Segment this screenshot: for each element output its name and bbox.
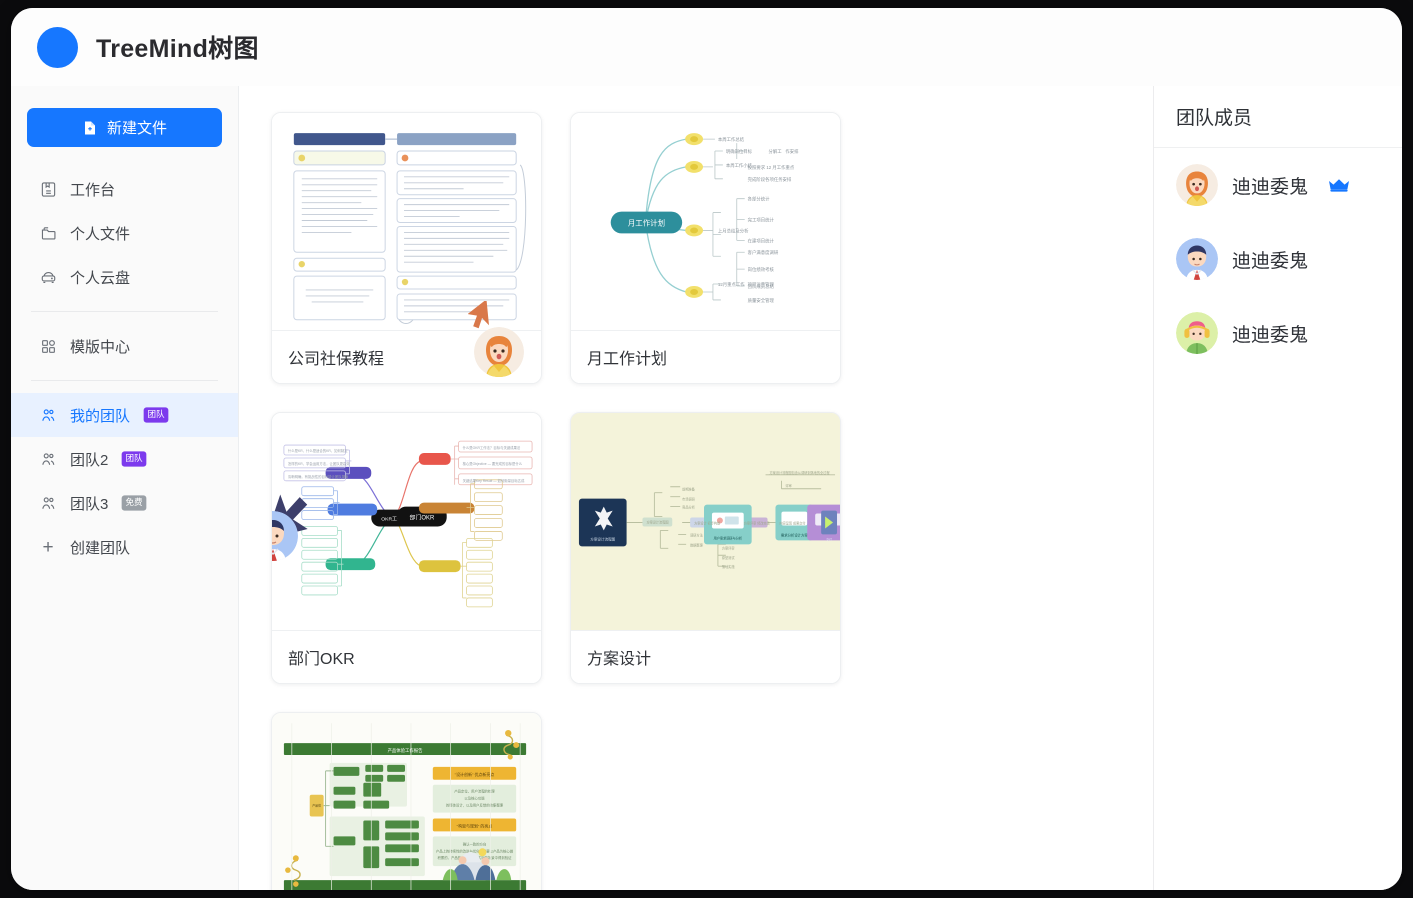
svg-text:月工作计划: 月工作计划: [628, 217, 665, 227]
document-thumbnail-doc-blue-outline: [272, 113, 541, 331]
team-members-title: 团队成员: [1154, 86, 1402, 148]
svg-text:作安排: 作安排: [785, 148, 799, 155]
sidebar-item-workbench[interactable]: 工作台: [11, 167, 238, 211]
document-thumbnail-mindmap-teal: 月工作计划: [571, 113, 840, 331]
document-thumbnail-report-green: 产品体验工作报告 产品体: [272, 713, 541, 890]
svg-text:什么是OKR工作法？目标与关键成果法: 什么是OKR工作法？目标与关键成果法: [463, 445, 521, 450]
sidebar-item-my-team[interactable]: 我的团队 团队: [11, 393, 238, 437]
create-team-button[interactable]: + 创建团队: [11, 525, 238, 569]
svg-text:完成阶段各项任务安排: 完成阶段各项任务安排: [748, 176, 792, 183]
svg-text:确认一致的方向: 确认一致的方向: [463, 841, 487, 846]
sidebar-item-team-2[interactable]: 团队2 团队: [11, 437, 238, 481]
cloud-disk-icon: [39, 268, 57, 286]
app-title: TreeMind树图: [96, 29, 259, 65]
sidebar-item-personal-cloud[interactable]: 个人云盘: [11, 255, 238, 299]
svg-text:产品体验工作报告: 产品体验工作报告: [388, 747, 424, 754]
app-window: TreeMind树图 新建文件: [11, 8, 1402, 890]
sidebar-item-team-3[interactable]: 团队3 免费: [11, 481, 238, 525]
svg-text:产品上的持续性的改进与优化，需要以产品为核心做: 产品上的持续性的改进与优化，需要以产品为核心做: [436, 848, 514, 853]
document-card[interactable]: 方案设计流程图: [570, 412, 841, 684]
svg-text:评审: 评审: [785, 483, 791, 488]
member-name: 迪迪委鬼: [1232, 172, 1308, 199]
document-thumbnail-flow-cream: 方案设计流程图: [571, 413, 840, 631]
svg-text:需求分析设计方案: 需求分析设计方案: [781, 532, 809, 537]
svg-text:怎样的KR，学会运用方法，让团队更高效: 怎样的KR，学会运用方法，让团队更高效: [288, 461, 350, 466]
sidebar-item-personal-cloud-label: 个人云盘: [70, 267, 130, 288]
sidebar-item-personal-files-label: 个人文件: [70, 223, 130, 244]
sidebar-item-template-center[interactable]: 模版中心: [11, 324, 238, 368]
document-card[interactable]: 公司社保教程: [271, 112, 542, 384]
document-card[interactable]: 月工作计划: [570, 112, 841, 384]
svg-text:关键结果Key Result — 如何衡量目标达成: 关键结果Key Result — 如何衡量目标达成: [463, 478, 525, 483]
avatar: [1176, 312, 1218, 354]
svg-text:用户需求调研与分析: 用户需求调研与分析: [714, 535, 743, 540]
new-file-button[interactable]: 新建文件: [27, 108, 222, 147]
svg-text:岗位绩效考核: 岗位绩效考核: [748, 266, 775, 273]
document-card-title: 方案设计: [571, 631, 840, 683]
grid-icon: [39, 337, 57, 355]
top-bar: TreeMind树图: [11, 8, 1402, 86]
create-team-label: 创建团队: [70, 537, 130, 558]
svg-text:项目运营管理: 项目运营管理: [748, 281, 775, 288]
document-card[interactable]: 产品体验工作报告 产品体: [271, 712, 542, 890]
workbench-icon: [39, 180, 57, 198]
avatar: [1176, 238, 1218, 280]
svg-text:落地实施: 落地实施: [722, 564, 735, 569]
primary-nav: 工作台 个人文件: [11, 167, 238, 299]
sidebar-item-my-team-badge: 团队: [144, 407, 169, 422]
svg-text:以及核心功能: 以及核心功能: [464, 796, 485, 801]
document-thumbnail-mindmap-colorful: OKR工作法 部门OKR: [272, 413, 541, 631]
document-card[interactable]: OKR工作法 部门OKR: [271, 412, 542, 684]
svg-text:市场调研: 市场调研: [682, 497, 695, 502]
sidebar-divider-1: [31, 311, 218, 312]
sidebar-item-workbench-label: 工作台: [70, 179, 115, 200]
sidebar-item-personal-files[interactable]: 个人文件: [11, 211, 238, 255]
svg-text:方案评审: 方案评审: [722, 545, 735, 550]
member-list-item[interactable]: 迪迪委鬼: [1154, 296, 1402, 370]
svg-text:交付: 交付: [826, 537, 832, 541]
svg-text:按照要求 12 月工作重点: 按照要求 12 月工作重点: [748, 164, 795, 171]
svg-text:清晰明确，有挑战性的目标能让团队凝聚: 清晰明确，有挑战性的目标能让团队凝聚: [288, 474, 349, 479]
sidebar-item-team-3-badge: 免费: [122, 495, 147, 510]
svg-text:质量安全管理: 质量安全管理: [748, 297, 775, 304]
member-name: 迪迪委鬼: [1232, 320, 1308, 347]
svg-text:客户满意度调研: 客户满意度调研: [748, 249, 779, 256]
crown-icon: [1328, 178, 1350, 193]
svg-text:上月总结及分析: 上月总结及分析: [718, 227, 749, 234]
svg-text:在建项目统计: 在建项目统计: [748, 237, 775, 244]
svg-text:产品体: 产品体: [312, 803, 321, 808]
svg-text:方案设计流程图: 方案设计流程图: [590, 536, 615, 541]
svg-text:各部分统计: 各部分统计: [748, 196, 770, 203]
sidebar-item-team-3-label: 团队3: [70, 493, 108, 514]
new-file-label: 新建文件: [107, 117, 167, 138]
svg-text:方案设计 初步构想: 方案设计 初步构想: [694, 520, 720, 525]
svg-text:分解工: 分解工: [769, 148, 783, 155]
svg-text:核心是Objective — 要完成的目标是什么: 核心是Objective — 要完成的目标是什么: [463, 461, 523, 466]
svg-text:什么是KR，什么是适合的KR，如何制定: 什么是KR，什么是适合的KR，如何制定: [288, 448, 348, 453]
team-nav: 我的团队 团队 团队2 团队: [11, 393, 238, 569]
svg-text:方案评审 修改完善: 方案评审 修改完善: [744, 520, 770, 525]
folder-icon: [39, 224, 57, 242]
svg-text:方案设计流程图包含从调研到落地的全过程: 方案设计流程图包含从调研到落地的全过程: [770, 470, 831, 475]
svg-text:"构思与规划" 的亮点: "构思与规划" 的亮点: [457, 823, 493, 828]
team-members-panel: 团队成员 迪迪委鬼: [1153, 86, 1402, 890]
sidebar-item-template-center-label: 模版中心: [70, 336, 130, 357]
brand[interactable]: TreeMind树图: [37, 27, 259, 68]
svg-text:方案设计流程图: 方案设计流程图: [646, 519, 668, 524]
svg-text:完工项目统计: 完工项目统计: [748, 217, 775, 224]
svg-text:的整体设计，以及用户反馈的收集整理: 的整体设计，以及用户反馈的收集整理: [446, 803, 504, 808]
svg-text:明确岗位目标: 明确岗位目标: [726, 148, 753, 155]
svg-text:产品定位、用户流程的梳理: 产品定位、用户流程的梳理: [454, 789, 495, 794]
document-card-title: 部门OKR: [272, 631, 541, 683]
team-icon: [39, 494, 57, 512]
svg-text:数据整理: 数据整理: [690, 542, 703, 547]
team-icon: [39, 450, 57, 468]
document-grid: 公司社保教程: [271, 112, 1123, 890]
svg-text:12月重点工作: 12月重点工作: [718, 281, 745, 288]
member-list-item[interactable]: 迪迪委鬼: [1154, 148, 1402, 222]
sidebar-item-team-2-badge: 团队: [122, 451, 147, 466]
svg-text:部门OKR: 部门OKR: [410, 514, 435, 522]
document-card-title: 公司社保教程: [272, 331, 541, 383]
svg-text:内容呈现 成果交付: 内容呈现 成果交付: [779, 520, 805, 525]
svg-text:"设计创新" 优点新亮点: "设计创新" 优点新亮点: [455, 772, 495, 777]
svg-text:竞品分析: 竞品分析: [682, 505, 695, 510]
main-content: 公司社保教程: [239, 86, 1153, 890]
svg-text:原型测试: 原型测试: [722, 555, 735, 560]
sidebar-item-my-team-label: 我的团队: [70, 405, 130, 426]
team-icon: [39, 406, 57, 424]
sidebar-divider-2: [31, 380, 218, 381]
treemind-logo-icon: [37, 27, 78, 68]
member-name: 迪迪委鬼: [1232, 246, 1308, 273]
svg-text:调研方法: 调研方法: [690, 532, 703, 537]
member-list-item[interactable]: 迪迪委鬼: [1154, 222, 1402, 296]
sidebar: 新建文件 工作台: [11, 86, 239, 890]
file-plus-icon: [82, 120, 98, 136]
sidebar-item-team-2-label: 团队2: [70, 449, 108, 470]
avatar: [1176, 164, 1218, 206]
svg-text:本周工作总结: 本周工作总结: [718, 136, 745, 143]
body-row: 新建文件 工作台: [11, 86, 1402, 890]
svg-text:前期准备: 前期准备: [682, 487, 695, 492]
plus-icon: +: [39, 538, 57, 556]
document-card-title: 月工作计划: [571, 331, 840, 383]
